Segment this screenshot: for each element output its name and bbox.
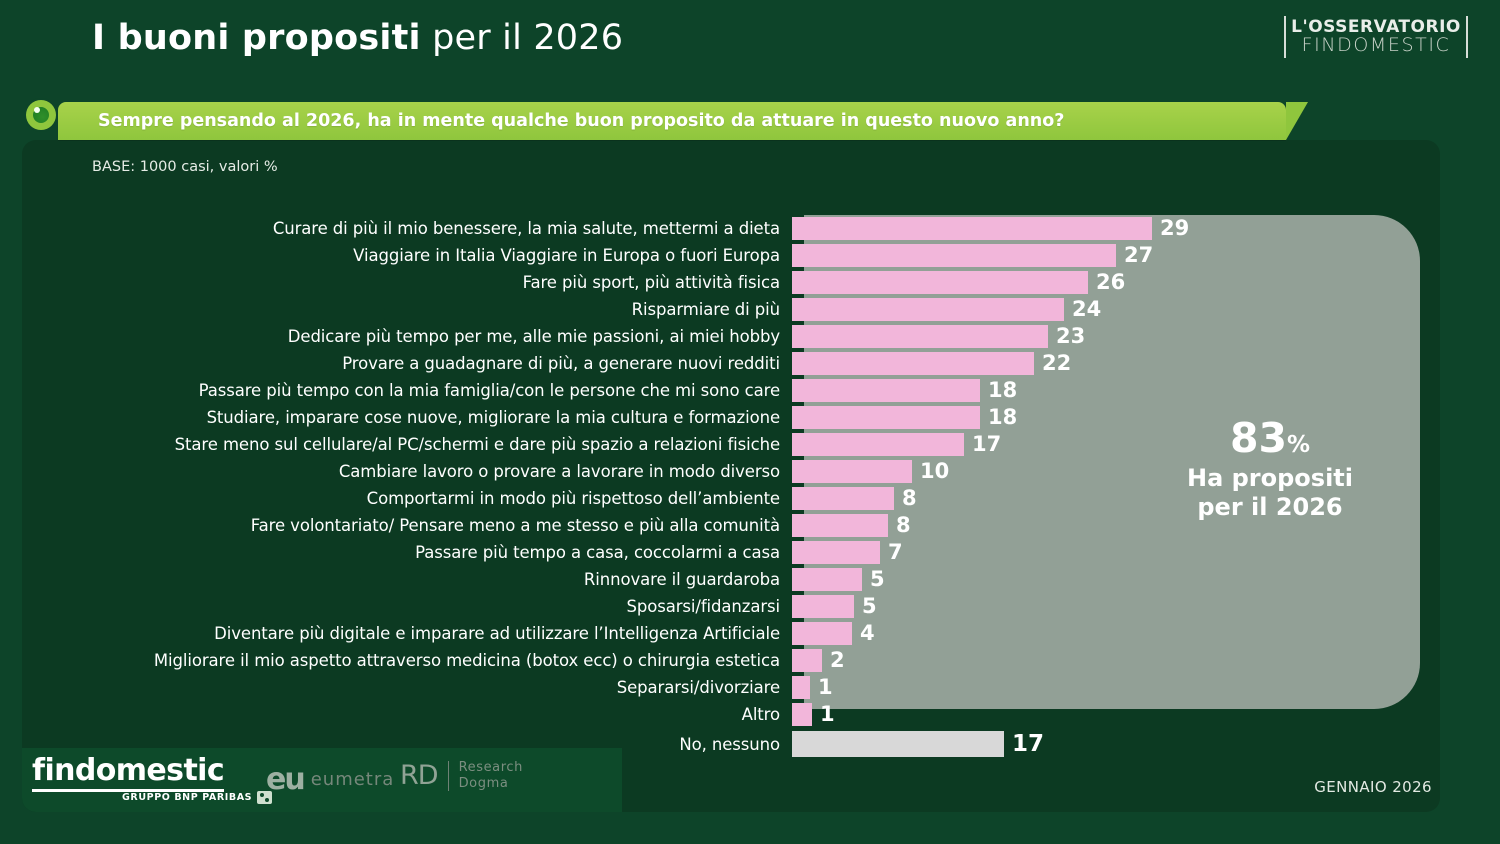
bar-value-label: 5 [862,596,877,617]
bar-row: Passare più tempo a casa, coccolarmi a c… [0,539,1500,566]
bar-value-label: 1 [820,704,835,725]
bar-row-label: Dedicare più tempo per me, alle mie pass… [0,327,792,346]
bar-row-bar-area: 8 [792,512,1500,539]
bar-value-label: 17 [1012,733,1044,756]
bar-value-label: 18 [988,380,1017,401]
bar-value-label: 4 [860,623,875,644]
bar-value-label: 18 [988,407,1017,428]
bar-row-label: Passare più tempo a casa, coccolarmi a c… [0,543,792,562]
bar-row-bar-area: 4 [792,620,1500,647]
bar-row-label: Viaggiare in Italia Viaggiare in Europa … [0,246,792,265]
bar-row: Altro1 [0,701,1500,728]
bar-row: Passare più tempo con la mia famiglia/co… [0,377,1500,404]
bar-row: Fare più sport, più attività fisica26 [0,269,1500,296]
bar-value-label: 8 [896,515,911,536]
bar-row-label: Migliorare il mio aspetto attraverso med… [0,651,792,670]
bar-row-bar-area: 29 [792,215,1500,242]
bar-row-bar-area: 10 [792,458,1500,485]
bar-row-bar-area: 1 [792,674,1500,701]
findomestic-subbrand: GRUPPO BNP PARIBAS [122,791,272,804]
findomestic-subbrand-text: GRUPPO BNP PARIBAS [122,792,252,803]
bar [792,352,1034,375]
eumetra-logo: eu eumetra [266,762,394,797]
bar-row: Diventare più digitale e imparare ad uti… [0,620,1500,647]
bar-row: Comportarmi in modo più rispettoso dell’… [0,485,1500,512]
bar [792,487,894,510]
bar-value-label: 24 [1072,299,1101,320]
eye-pupil [33,107,49,123]
bar-value-label: 10 [920,461,949,482]
bar [792,460,912,483]
bar [792,325,1048,348]
bar-value-label: 27 [1124,245,1153,266]
research-dogma-mark: RD [400,760,438,791]
bar-value-label: 7 [888,542,903,563]
bar-value-label: 1 [818,677,833,698]
logo-side-bars [1284,14,1468,60]
bar [792,622,852,645]
research-dogma-wordmark: Research Dogma [459,760,523,791]
bar-row-label: Studiare, imparare cose nuove, migliorar… [0,408,792,427]
bar-row-bar-area: 5 [792,593,1500,620]
bar-row-bar-area: 8 [792,485,1500,512]
bar [792,731,1004,757]
bar-row-bar-area: 24 [792,296,1500,323]
bar-row: Cambiare lavoro o provare a lavorare in … [0,458,1500,485]
base-note: BASE: 1000 casi, valori % [92,159,278,175]
bar-row-bar-area: 22 [792,350,1500,377]
bar [792,649,822,672]
bar-row: Rinnovare il guardaroba5 [0,566,1500,593]
bar-row-label: Altro [0,705,792,724]
bar-row-label: Separarsi/divorziare [0,678,792,697]
bar-row: Fare volontariato/ Pensare meno a me ste… [0,512,1500,539]
bar [792,379,980,402]
research-dogma-logo: RD Research Dogma [400,760,523,791]
bar-row-label: Fare volontariato/ Pensare meno a me ste… [0,516,792,535]
eumetra-wordmark: eumetra [311,769,395,790]
bar-row-label: Sposarsi/fidanzarsi [0,597,792,616]
bar-row-bar-area: 18 [792,404,1500,431]
question-text: Sempre pensando al 2026, ha in mente qua… [98,111,1064,131]
bar [792,244,1116,267]
bar [792,406,980,429]
bar-value-label: 26 [1096,272,1125,293]
bar [792,271,1088,294]
findomestic-wordmark-text: findomestic [32,753,224,792]
bar-value-label: 22 [1042,353,1071,374]
page-title-bold: I buoni propositi [92,18,421,58]
bar-row-bar-area: 7 [792,539,1500,566]
bar-row-label: Curare di più il mio benessere, la mia s… [0,219,792,238]
bar-row-label: Passare più tempo con la mia famiglia/co… [0,381,792,400]
bar-value-label: 2 [830,650,845,671]
publication-date: GENNAIO 2026 [1314,778,1432,796]
bar-row-label: Provare a guadagnare di più, a generare … [0,354,792,373]
bar-row: Provare a guadagnare di più, a generare … [0,350,1500,377]
bar-row-bar-area: 23 [792,323,1500,350]
bar-row: Viaggiare in Italia Viaggiare in Europa … [0,242,1500,269]
osservatorio-findomestic-logo: L'OSSERVATORIO FINDOMESTIC [1284,14,1468,60]
bar [792,514,888,537]
bar-row-label: Comportarmi in modo più rispettoso dell’… [0,489,792,508]
bar-row-bar-area: 17 [792,431,1500,458]
bar-row: Risparmiare di più24 [0,296,1500,323]
bar-row: Studiare, imparare cose nuove, migliorar… [0,404,1500,431]
bar-row-bar-area: 26 [792,269,1500,296]
findomestic-wordmark: findomestic [32,756,272,786]
bar-row: Migliorare il mio aspetto attraverso med… [0,647,1500,674]
bar-row: Stare meno sul cellulare/al PC/schermi e… [0,431,1500,458]
bar-row-bar-area: 27 [792,242,1500,269]
bar-row: Curare di più il mio benessere, la mia s… [0,215,1500,242]
page-title: I buoni propositi per il 2026 [92,18,623,58]
bar-row-bar-area: 1 [792,701,1500,728]
bar-row-label: Fare più sport, più attività fisica [0,273,792,292]
research-dogma-divider [448,761,449,791]
bar-row-bar-area: 2 [792,647,1500,674]
infographic-root: I buoni propositi per il 2026 L'OSSERVAT… [0,0,1500,844]
bar-row: Separarsi/divorziare1 [0,674,1500,701]
bar-row-label: Rinnovare il guardaroba [0,570,792,589]
bar [792,541,880,564]
bar [792,217,1152,240]
bar-row-bar-area: 18 [792,377,1500,404]
bar-row: Sposarsi/fidanzarsi5 [0,593,1500,620]
bar-row-label: Diventare più digitale e imparare ad uti… [0,624,792,643]
page-title-regular: per il 2026 [421,18,623,58]
bar-row-bar-area: 5 [792,566,1500,593]
findomestic-logo: findomestic GRUPPO BNP PARIBAS [32,756,272,804]
bar-value-label: 5 [870,569,885,590]
banner-tail-shape [1286,102,1308,140]
bar-value-label: 8 [902,488,917,509]
bar-value-label: 17 [972,434,1001,455]
bar [792,568,862,591]
bar [792,676,810,699]
bar-row-label: Cambiare lavoro o provare a lavorare in … [0,462,792,481]
bar-row-label: Risparmiare di più [0,300,792,319]
bar-chart-rows: Curare di più il mio benessere, la mia s… [0,215,1500,760]
eye-icon [26,100,56,130]
eye-glint [34,107,40,113]
eumetra-mark: eu [266,762,304,797]
question-banner: Sempre pensando al 2026, ha in mente qua… [58,102,1286,140]
bar-row-bar-area: 17 [792,731,1500,758]
bar-row-label: Stare meno sul cellulare/al PC/schermi e… [0,435,792,454]
research-dogma-line-1: Research [459,760,523,775]
research-dogma-line-2: Dogma [459,776,509,791]
bar [792,595,854,618]
bar [792,298,1064,321]
bar-row: Dedicare più tempo per me, alle mie pass… [0,323,1500,350]
bar-value-label: 29 [1160,218,1189,239]
bar [792,703,812,726]
bar [792,433,964,456]
bar-value-label: 23 [1056,326,1085,347]
